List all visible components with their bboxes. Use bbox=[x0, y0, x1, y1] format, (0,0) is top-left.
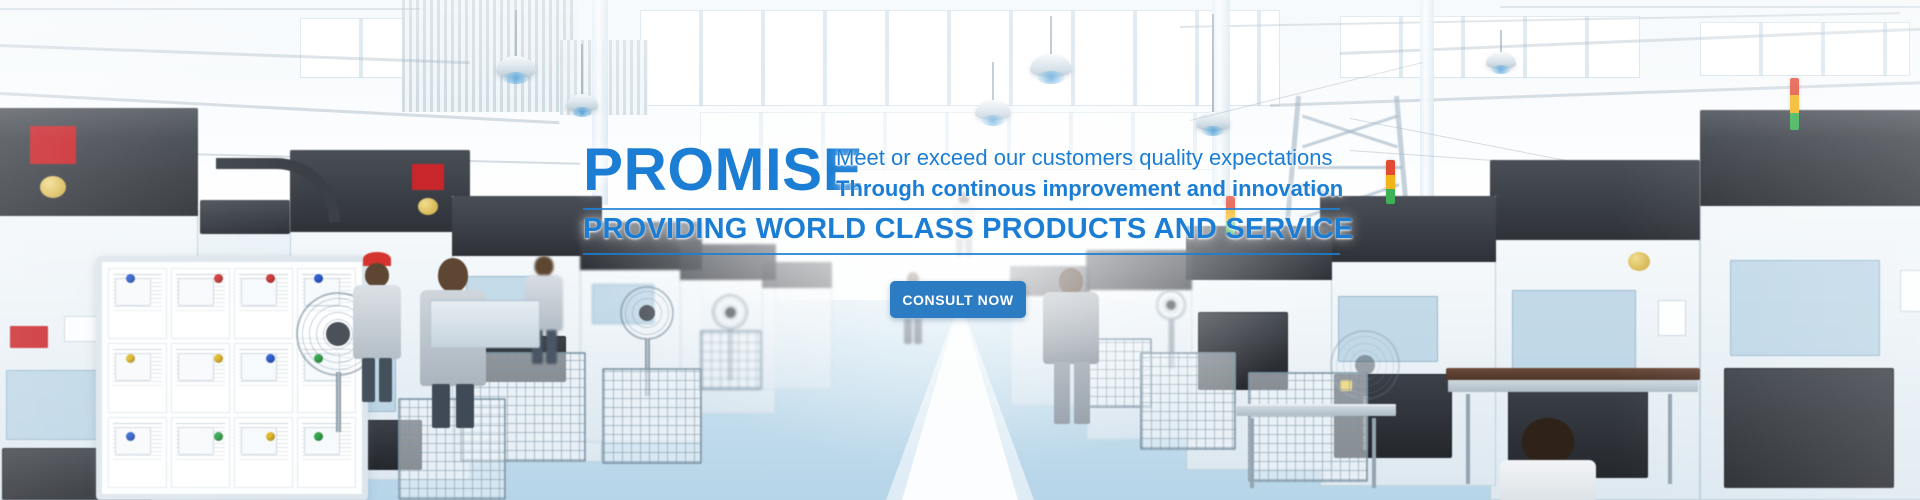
slogan-line-2: Through continous improvement and innova… bbox=[836, 173, 1456, 204]
banner-eyebrow: PROMISE bbox=[583, 140, 863, 200]
banner-headline: PROVIDING WORLD CLASS PRODUCTS AND SERVI… bbox=[583, 207, 1383, 251]
banner-slogan: Meet or exceed our customers quality exp… bbox=[836, 142, 1456, 204]
banner-text-overlay: PROMISE Meet or exceed our customers qua… bbox=[0, 0, 1920, 500]
slogan-line-1: Meet or exceed our customers quality exp… bbox=[836, 142, 1456, 173]
divider-bottom bbox=[583, 253, 1340, 255]
hero-banner: PROMISE Meet or exceed our customers qua… bbox=[0, 0, 1920, 500]
consult-now-button[interactable]: CONSULT NOW bbox=[890, 281, 1026, 318]
